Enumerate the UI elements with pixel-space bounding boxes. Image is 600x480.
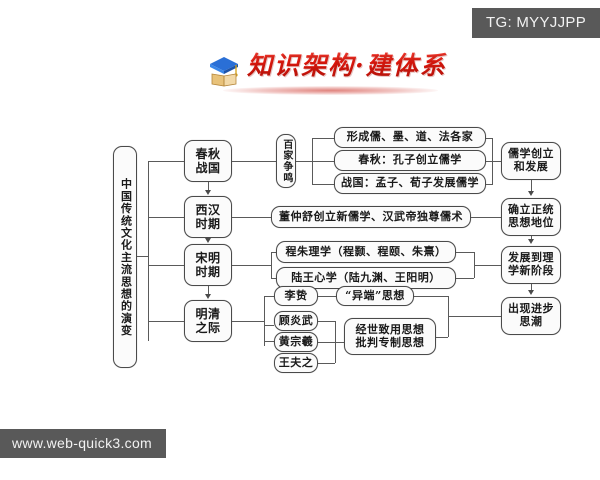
mingqing-person-2: 黄宗羲 [274, 332, 318, 352]
connector-group-merge [436, 337, 448, 338]
han-item-0: 董仲舒创立新儒学、汉武帝独尊儒术 [271, 206, 471, 228]
watermark-website: www.web-quick3.com [0, 429, 166, 458]
baijia-item-1: 春秋：孔子创立儒学 [334, 150, 486, 171]
graduation-cap-book-icon [207, 52, 241, 88]
title-text: 知识架构·建体系 [247, 46, 447, 82]
outcome-node-2: 发展到理 学新阶段 [501, 246, 561, 284]
connector-lizhi-to-thought [318, 296, 336, 297]
connector-mingqing-bracket [264, 296, 265, 346]
connector-mingqing-person-2 [264, 341, 274, 342]
connector-trunk-era-2 [148, 265, 184, 266]
era-node-0: 春秋战国 [184, 140, 232, 182]
connector-to-outcome-2 [474, 265, 501, 266]
mingqing-person-1: 顾炎武 [274, 311, 318, 331]
connector-baijia-item-1 [312, 161, 334, 162]
arrow-era-1-2 [205, 238, 211, 243]
outcome-3-line-2: 思潮 [520, 316, 543, 329]
mingqing-person-3: 王夫之 [274, 353, 318, 373]
title-underline-swoosh [223, 86, 438, 95]
connector-lizhi-merge [414, 296, 448, 297]
connector-baijia-merge-0 [486, 138, 493, 139]
outcome-node-0: 儒学创立 和发展 [501, 142, 561, 180]
baijia-zhengming-node: 百家争鸣 [276, 134, 296, 188]
arrow-era-2-3 [205, 294, 211, 299]
connector-songming-bracket [271, 252, 272, 278]
connector-mingqing-person-1 [264, 325, 274, 326]
page-title: 知识架构·建体系 [195, 44, 455, 100]
connector-baijia-item-2 [312, 184, 334, 185]
era-label-3: 明清之际 [195, 307, 220, 335]
arrow-outcome-0-1 [528, 191, 534, 196]
group-thought-line-2: 批判专制思想 [356, 337, 425, 350]
era-node-1: 西汉时期 [184, 196, 232, 238]
outcome-node-1: 确立正统 思想地位 [501, 198, 561, 236]
mingqing-person-0: 李贽 [274, 286, 318, 306]
connector-songming-merge-0 [456, 252, 474, 253]
connector-huang-right [318, 342, 335, 343]
connector-era-2-3 [208, 286, 209, 294]
era-label-1: 西汉时期 [195, 203, 220, 231]
connector-outcome-0-1 [531, 180, 532, 191]
baijia-item-2: 战国：孟子、荀子发展儒学 [334, 173, 486, 194]
connector-trunk-era-0 [148, 161, 184, 162]
connector-trunk-era-1 [148, 217, 184, 218]
connector-scholars-to-thought [335, 342, 344, 343]
connector-era2-to-songming [232, 265, 271, 266]
connector-era1-to-han [232, 217, 271, 218]
era-label-2: 宋明时期 [195, 251, 220, 279]
connector-songming-merge-1 [456, 278, 474, 279]
connector-era0-to-baijia [232, 161, 276, 162]
outcome-2-line-2: 学新阶段 [508, 265, 554, 278]
connector-to-outcome-3 [448, 316, 501, 317]
connector-to-outcome-1 [471, 217, 501, 218]
connector-trunk-era-3 [148, 321, 184, 322]
arrow-outcome-1-2 [528, 239, 534, 244]
outcome-node-3: 出现进步 思潮 [501, 297, 561, 335]
era-node-3: 明清之际 [184, 300, 232, 342]
connector-wang-right [318, 363, 335, 364]
connector-baijia-stem [296, 161, 312, 162]
watermark-telegram: TG: MYYJJPP [472, 8, 600, 38]
connector-trunk [148, 161, 149, 341]
root-node: 中国传统文化主流思想的演变 [113, 146, 137, 368]
baijia-item-0: 形成儒、墨、道、法各家 [334, 127, 486, 148]
group-thought-line-1: 经世致用思想 [356, 324, 425, 337]
connector-to-outcome-0 [492, 161, 501, 162]
arrow-era-0-1 [205, 190, 211, 195]
lizhi-thought-node: “异端”思想 [336, 286, 414, 306]
connector-baijia-merge-2 [486, 184, 493, 185]
connector-baijia-item-0 [312, 138, 334, 139]
diagram-canvas: TG: MYYJJPP www.web-quick3.com 知识架构·建体系 … [0, 0, 600, 480]
arrow-outcome-2-3 [528, 290, 534, 295]
connector-era3-to-mingqing [232, 321, 264, 322]
era-node-2: 宋明时期 [184, 244, 232, 286]
connector-mingqing-person-0 [264, 296, 274, 297]
connector-gu-right [318, 321, 335, 322]
mingqing-group-thought-node: 经世致用思想 批判专制思想 [344, 318, 436, 355]
outcome-0-line-2: 和发展 [514, 161, 549, 174]
era-label-0: 春秋战国 [195, 147, 220, 175]
songming-item-0: 程朱理学（程颢、程颐、朱熹） [276, 241, 456, 263]
outcome-1-line-2: 思想地位 [508, 217, 554, 230]
